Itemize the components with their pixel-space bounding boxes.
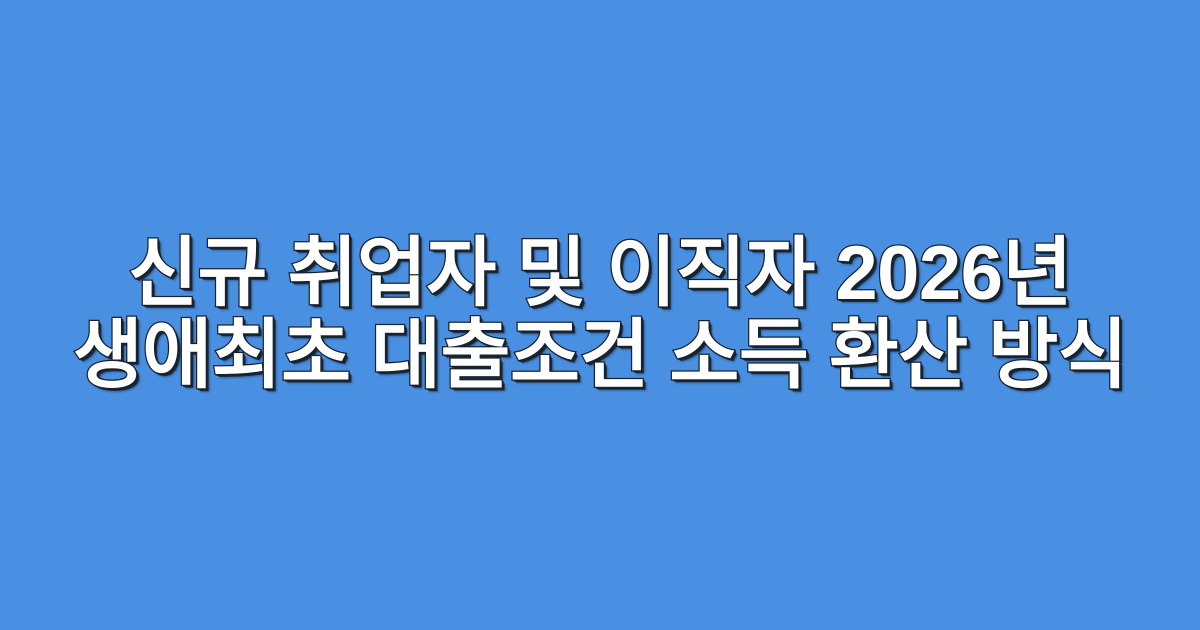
title-line-2: 생애최초 대출조건 소득 환산 방식 [73, 315, 1127, 397]
thumbnail-card: 신규 취업자 및 이직자 2026년 생애최초 대출조건 소득 환산 방식 [0, 0, 1200, 630]
title-block: 신규 취업자 및 이직자 2026년 생애최초 대출조건 소득 환산 방식 [30, 233, 1170, 397]
title-line-1: 신규 취업자 및 이직자 2026년 [128, 233, 1072, 315]
